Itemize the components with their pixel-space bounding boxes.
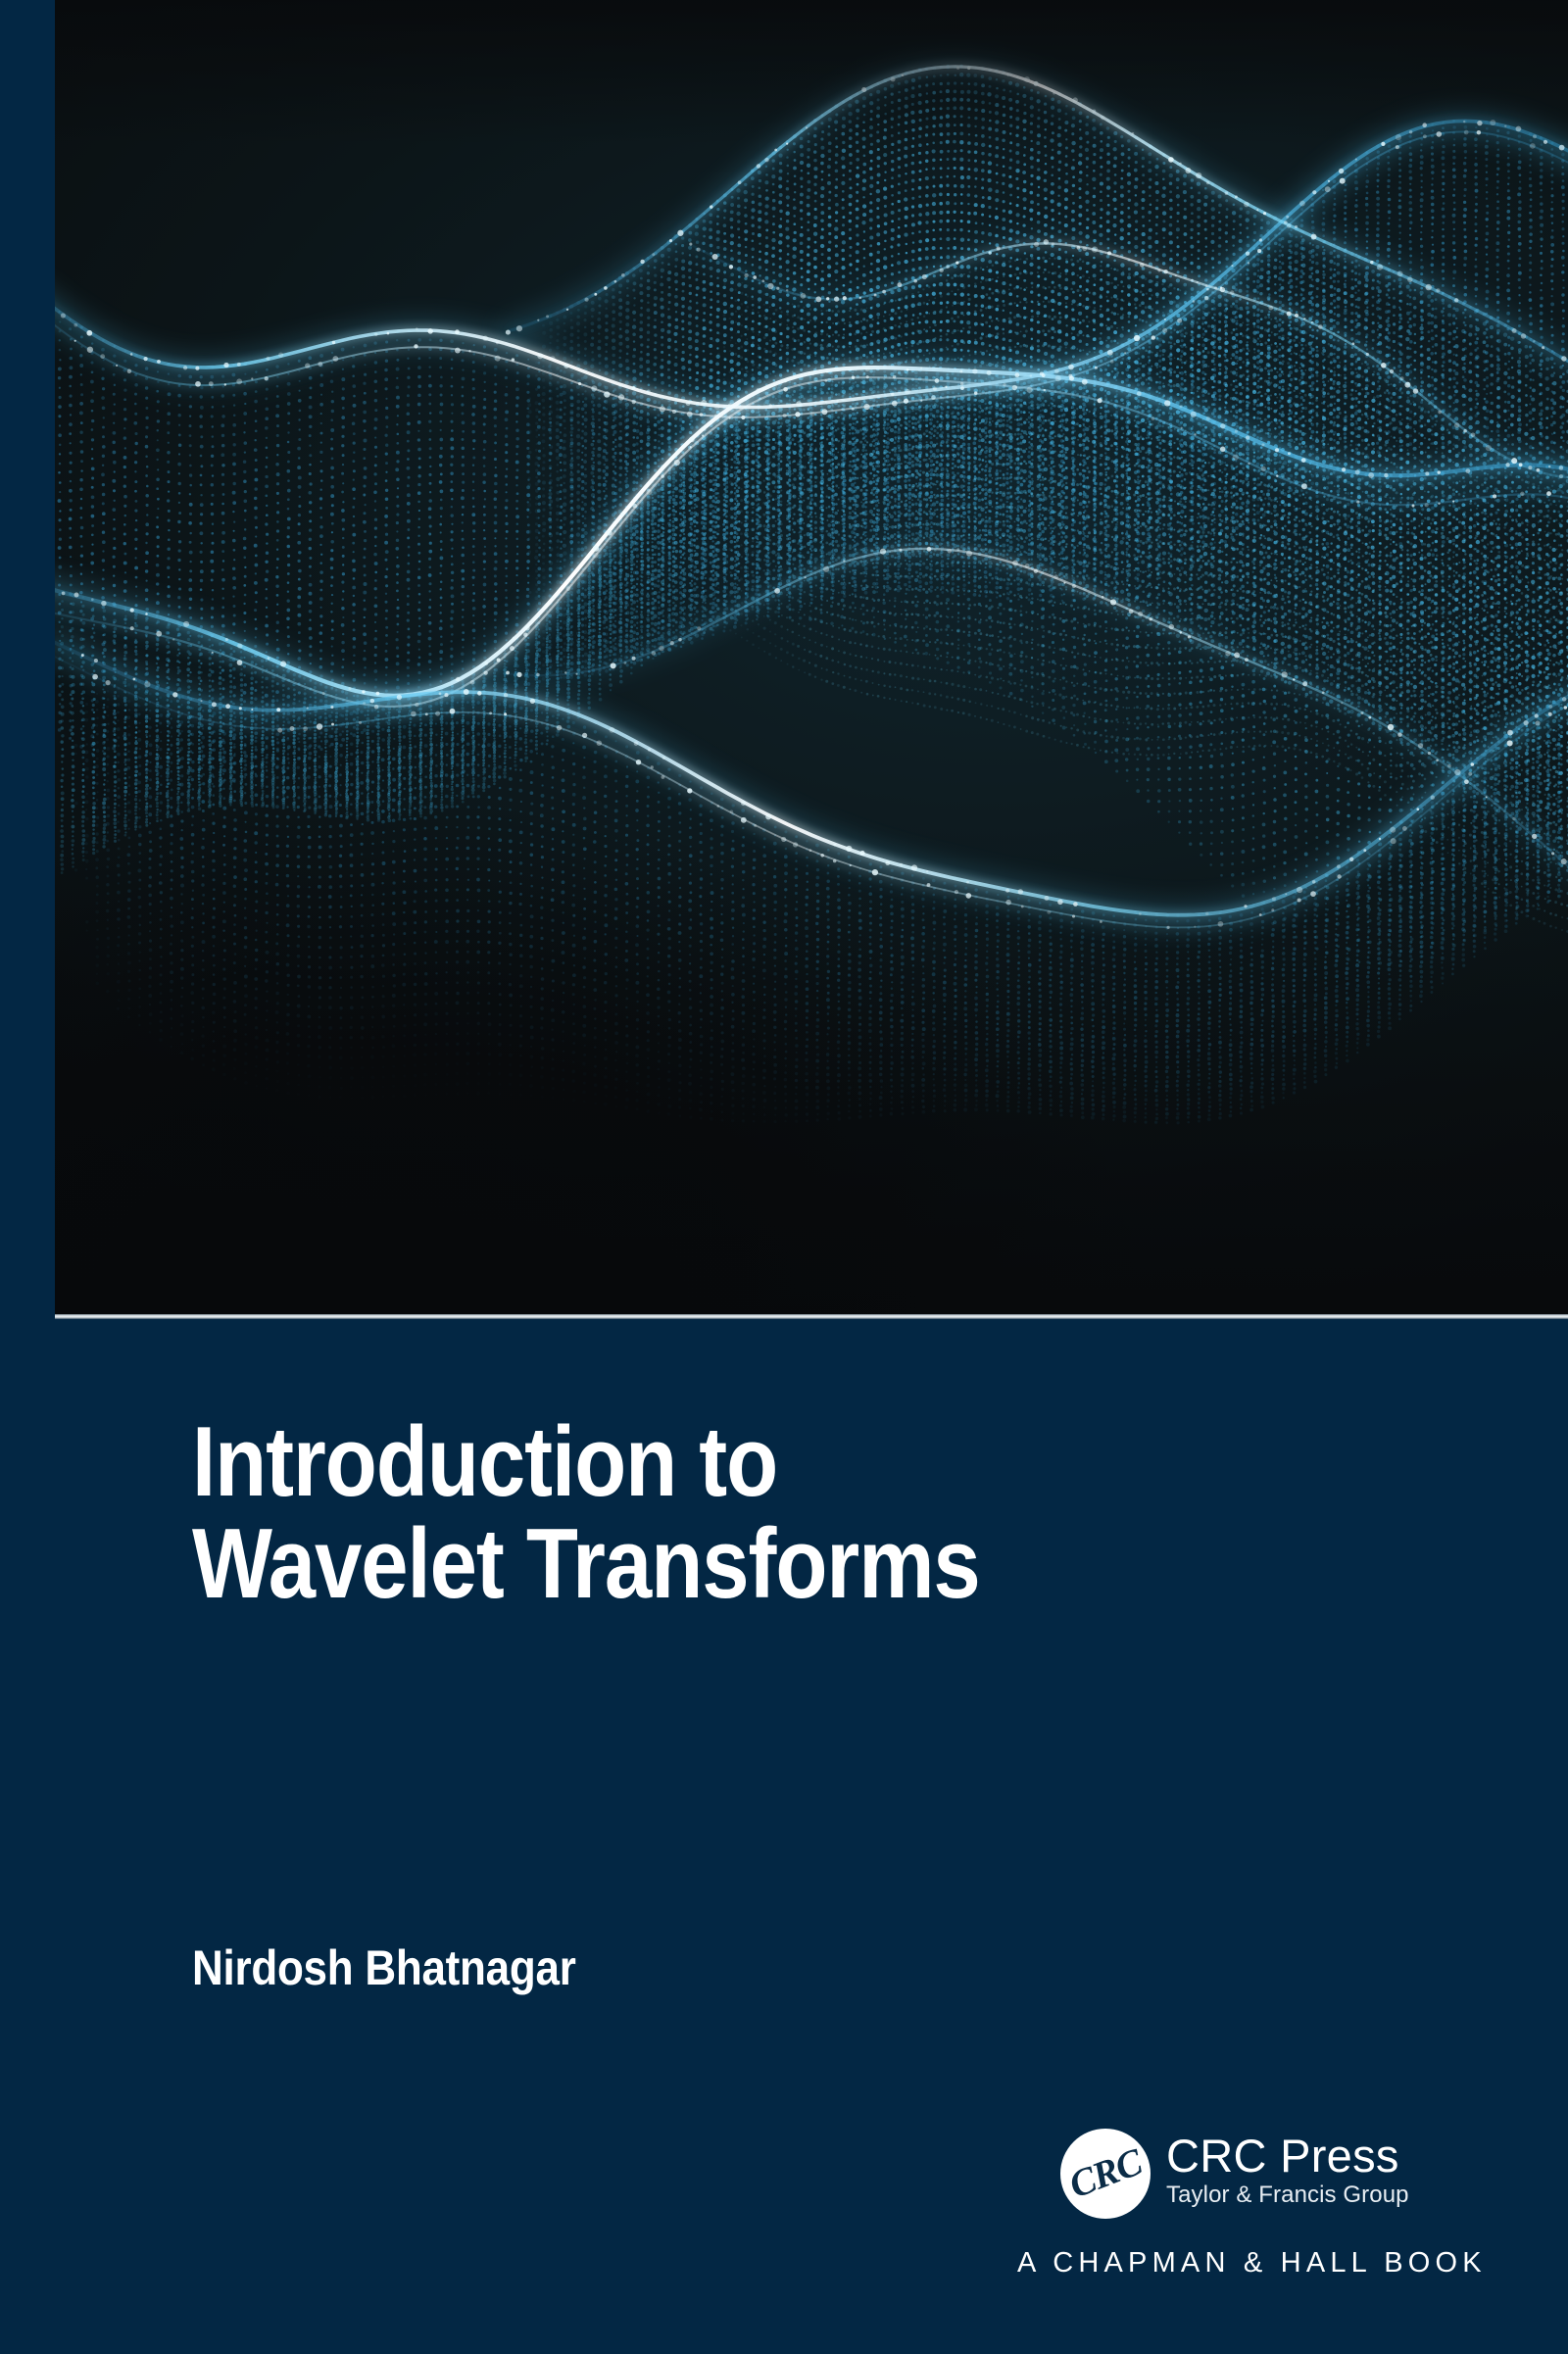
title-line-1: Introduction to	[192, 1411, 1288, 1513]
title-line-2: Wavelet Transforms	[192, 1513, 1288, 1615]
publisher-group: Taylor & Francis Group	[1166, 2182, 1460, 2209]
crc-roundel-icon: CRC	[1060, 2129, 1151, 2219]
spine-strip	[0, 0, 55, 1317]
publisher-name: CRC Press	[1166, 2131, 1460, 2182]
cover-divider-rule	[55, 1314, 1568, 1319]
book-cover: Introduction to Wavelet Transforms Nirdo…	[0, 0, 1568, 2354]
page-title: Introduction to Wavelet Transforms	[192, 1411, 1466, 1615]
author-name: Nirdosh Bhatnagar	[192, 1940, 576, 1995]
wave-mesh-graphic	[55, 0, 1568, 1317]
imprint-strapline: A CHAPMAN & HALL BOOK	[1017, 2246, 1487, 2280]
cover-artwork-panel	[55, 0, 1568, 1317]
crc-press-logo: CRC CRC Press Taylor & Francis Group	[1060, 2125, 1472, 2229]
crc-roundel-label: CRC	[1064, 2142, 1147, 2204]
crc-wordmark: CRC Press Taylor & Francis Group	[1166, 2131, 1460, 2209]
